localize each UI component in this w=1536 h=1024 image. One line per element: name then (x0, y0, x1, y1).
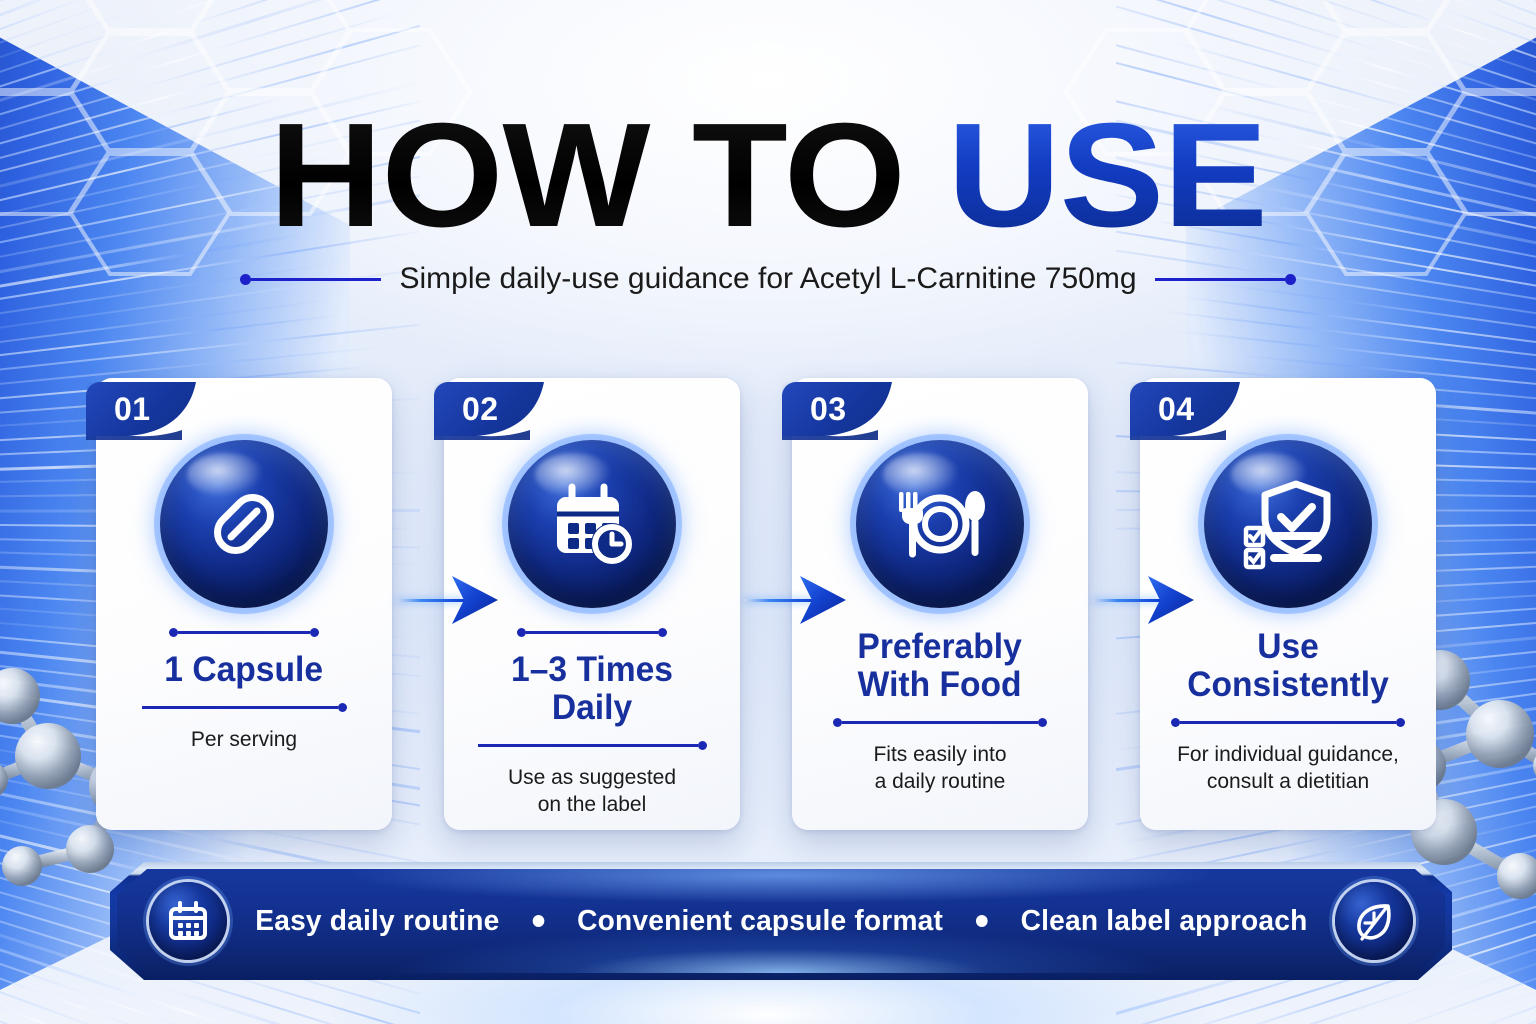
step-title-02: 1–3 Times Daily (467, 651, 717, 727)
subtitle-bar-left (251, 278, 381, 281)
step-number-badge-03: 03 (782, 382, 914, 436)
step-title-01: 1 Capsule (165, 651, 324, 689)
divider-dot (1171, 718, 1180, 727)
step-divider-bottom-03 (833, 718, 1047, 727)
divider-dot (833, 718, 842, 727)
divider-line (842, 721, 1038, 724)
step-body-04: UseConsistently For individual guidance,… (1140, 628, 1436, 816)
step-caption-04: For individual guidance,consult a dietit… (1177, 741, 1399, 796)
divider-line (478, 744, 698, 747)
infographic-canvas: HOW TO USE Simple daily-use guidance for… (0, 0, 1536, 1024)
subtitle-bar-right (1155, 278, 1285, 281)
step-card-01[interactable]: 01 1 Capsule (96, 378, 392, 830)
step-icon-orb-03 (856, 440, 1024, 608)
step-title-03: PreferablyWith Food (858, 628, 1022, 704)
plate-cutlery-icon (891, 478, 989, 570)
step-cards: 01 1 Capsule (96, 378, 1440, 830)
divider-line (1180, 721, 1396, 724)
leaf-icon (1350, 897, 1398, 945)
page-subtitle: Simple daily-use guidance for Acetyl L-C… (399, 262, 1136, 296)
benefits-bar-inner: Easy daily routine Convenient capsule fo… (117, 869, 1445, 973)
divider-dot (698, 741, 707, 750)
benefits-chip-list: Easy daily routine Convenient capsule fo… (255, 905, 1307, 938)
benefit-separator-2 (976, 915, 988, 927)
capsule-icon (198, 478, 290, 570)
step-number-badge-02: 02 (434, 382, 566, 436)
step-caption-01: Per serving (191, 726, 297, 754)
step-divider-top-02 (517, 628, 667, 637)
arrow-1-to-2 (396, 574, 496, 626)
step-divider-top-01 (169, 628, 319, 637)
calendar-icon (165, 898, 211, 944)
step-icon-orb-01 (160, 440, 328, 608)
step-icon-wrap-01 (96, 440, 392, 608)
step-caption-03: Fits easily intoa daily routine (873, 741, 1006, 796)
divider-dot (310, 628, 319, 637)
step-divider-bottom-01 (142, 703, 347, 712)
benefit-chip-1: Easy daily routine (255, 905, 499, 938)
benefits-bar-right-badge (1335, 882, 1413, 960)
benefits-bar: Easy daily routine Convenient capsule fo… (110, 862, 1452, 980)
divider-line (526, 631, 658, 634)
divider-dot (517, 628, 526, 637)
step-icon-orb-04 (1204, 440, 1372, 608)
subtitle-rule-right (1155, 274, 1296, 285)
divider-line (142, 706, 338, 709)
step-divider-bottom-02 (478, 741, 707, 750)
subtitle-dot-right (1285, 274, 1296, 285)
divider-dot (338, 703, 347, 712)
step-number-badge-04: 04 (1130, 382, 1262, 436)
page-title-accent: USE (947, 93, 1266, 258)
benefit-chip-2: Convenient capsule format (577, 905, 943, 938)
step-number-badge-01: 01 (86, 382, 218, 436)
page-title: HOW TO USE (0, 108, 1536, 244)
step-body-03: PreferablyWith Food Fits easily intoa da… (792, 628, 1088, 816)
calendar-clock-icon (544, 476, 640, 572)
divider-dot (1396, 718, 1405, 727)
benefits-bar-left-badge (149, 882, 227, 960)
step-icon-orb-02 (508, 440, 676, 608)
subtitle-rule-left (240, 274, 381, 285)
benefit-separator-1 (532, 915, 544, 927)
page-title-dark: HOW TO (269, 93, 905, 258)
divider-dot (658, 628, 667, 637)
benefit-chip-3: Clean label approach (1020, 905, 1307, 938)
arrow-3-to-4 (1092, 574, 1192, 626)
step-body-02: 1–3 Times Daily Use as suggestedon the l… (444, 628, 740, 816)
step-caption-02: Use as suggestedon the label (508, 764, 676, 819)
subtitle-row: Simple daily-use guidance for Acetyl L-C… (0, 262, 1536, 296)
shield-check-checklist-icon (1239, 478, 1337, 570)
step-body-01: 1 Capsule Per serving (96, 628, 392, 816)
divider-dot (169, 628, 178, 637)
step-divider-bottom-04 (1171, 718, 1405, 727)
header: HOW TO USE Simple daily-use guidance for… (0, 108, 1536, 296)
divider-line (178, 631, 310, 634)
step-title-04: UseConsistently (1187, 628, 1389, 704)
arrow-2-to-3 (744, 574, 844, 626)
subtitle-dot-left (240, 274, 251, 285)
divider-dot (1038, 718, 1047, 727)
